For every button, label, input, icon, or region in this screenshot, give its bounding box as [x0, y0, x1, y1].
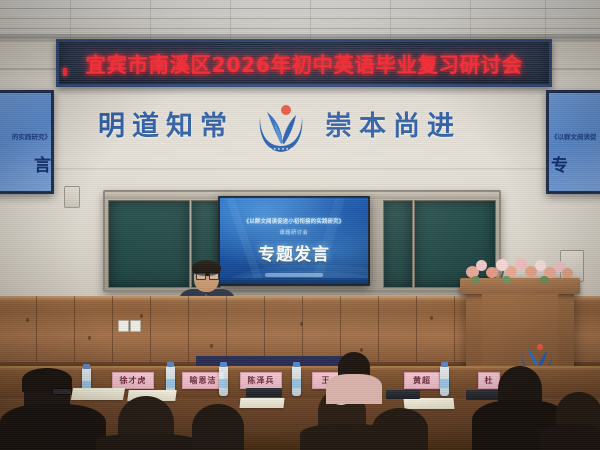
side-screen-right-line2: 专 — [549, 151, 600, 176]
wall-motto-right: 崇本尚进 — [325, 104, 461, 143]
slide-title-line: 《以群文阅读促进小初衔接的实践研究》 — [220, 217, 368, 225]
wall-speaker-left — [64, 186, 80, 208]
nameplate: 徐才虎 — [112, 372, 154, 389]
slide-toolbar[interactable] — [265, 273, 323, 277]
audience-head — [192, 404, 244, 450]
flower-arrangement — [462, 254, 578, 284]
nameplate: 喻恩洁 — [182, 372, 224, 389]
water-bottle — [292, 366, 301, 396]
slide-headline: 专题发言 — [220, 240, 368, 265]
school-emblem-icon: ★ ★ ★ ★ ★ ★ — [253, 99, 309, 157]
chalkboard-panel-inner-right — [383, 200, 413, 288]
slide-subtitle-line: 课题研讨会 — [220, 229, 368, 236]
document-paper — [239, 398, 284, 408]
power-outlet-b — [130, 320, 141, 332]
audience-head — [372, 408, 428, 450]
laptop-device[interactable] — [246, 388, 282, 397]
side-screen-right: 《以群文阅读促 专 — [546, 90, 600, 194]
water-bottle — [440, 366, 449, 396]
svg-text:★ ★ ★ ★ ★ ★: ★ ★ ★ ★ ★ ★ — [269, 147, 293, 151]
wall-motto-left: 明道知常 — [98, 104, 234, 143]
document-paper — [403, 398, 454, 409]
display-taskbar[interactable] — [220, 278, 368, 284]
nameplate: 黄超 — [404, 372, 440, 389]
side-screen-right-line1: 《以群文阅读促 — [549, 131, 600, 141]
led-banner: 宜宾市南溪区2026年初中英语毕业复习研讨会 — [56, 39, 552, 87]
nameplate: 陈泽兵 — [240, 372, 282, 389]
audience-shoulders — [0, 404, 106, 450]
audience-glasses-icon — [52, 388, 72, 395]
side-screen-left-line2: 言 — [0, 151, 53, 176]
laptop-device[interactable] — [386, 390, 420, 399]
conference-hall-photo: 宜宾市南溪区2026年初中英语毕业复习研讨会 明道知常 ★ ★ ★ ★ ★ ★ … — [0, 0, 600, 450]
smart-display-screen[interactable]: 《以群文阅读促进小初衔接的实践研究》 课题研讨会 专题发言 — [218, 196, 370, 286]
laptop-device[interactable] — [466, 390, 500, 400]
led-indicator-dot — [63, 68, 67, 76]
side-screen-left-line1: 的实践研究》 — [0, 131, 53, 141]
audience-shoulders — [326, 374, 382, 404]
nameplate: 杜 — [478, 372, 500, 389]
side-screen-left: 的实践研究》 言 — [0, 90, 54, 194]
document-paper — [71, 388, 125, 400]
power-outlet-a — [118, 320, 129, 332]
led-banner-text: 宜宾市南溪区2026年初中英语毕业复习研讨会 — [85, 48, 522, 78]
glasses-icon — [196, 273, 217, 278]
water-bottle — [219, 366, 228, 396]
audience-shoulders — [540, 424, 600, 450]
audience-shoulders — [96, 434, 196, 450]
